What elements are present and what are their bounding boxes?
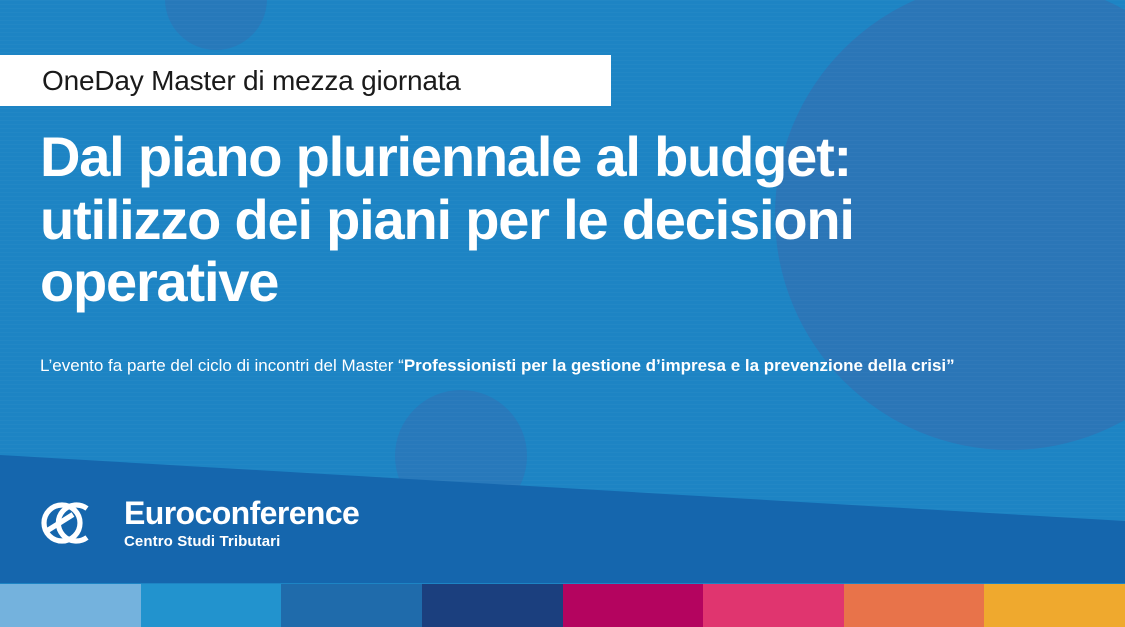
- color-swatch-pink: [703, 584, 844, 627]
- color-swatch-light-blue: [0, 584, 141, 627]
- event-format-badge: OneDay Master di mezza giornata: [0, 55, 611, 106]
- color-swatch-bright-blue: [141, 584, 282, 627]
- color-swatch-orange: [844, 584, 985, 627]
- event-subtitle: L’evento fa parte del ciclo di incontri …: [40, 353, 1085, 379]
- color-swatch-navy-blue: [422, 584, 563, 627]
- event-format-badge-label: OneDay Master di mezza giornata: [0, 65, 461, 97]
- color-swatch-medium-blue: [281, 584, 422, 627]
- color-swatch-magenta: [563, 584, 704, 627]
- ec-monogram-icon: [40, 498, 110, 548]
- decorative-circle-top-left: [165, 0, 267, 50]
- brand-logo: Euroconference Centro Studi Tributari: [40, 497, 359, 550]
- brand-name: Euroconference: [124, 497, 359, 531]
- page-title-line-1: Dal piano pluriennale al budget:: [40, 126, 1080, 189]
- page-title-line-3: operative: [40, 251, 1080, 314]
- event-subtitle-master-name: Professionisti per la gestione d’impresa…: [404, 356, 946, 375]
- event-promo-banner: OneDay Master di mezza giornata Dal pian…: [0, 0, 1125, 627]
- page-title: Dal piano pluriennale al budget: utilizz…: [40, 126, 1080, 314]
- color-swatch-amber: [984, 584, 1125, 627]
- event-subtitle-trail: ”: [946, 356, 955, 375]
- brand-tagline: Centro Studi Tributari: [124, 533, 359, 550]
- brand-color-strip: [0, 584, 1125, 627]
- event-subtitle-lead: L’evento fa parte del ciclo di incontri …: [40, 356, 404, 375]
- brand-logo-text: Euroconference Centro Studi Tributari: [124, 497, 359, 550]
- page-title-line-2: utilizzo dei piani per le decisioni: [40, 189, 1080, 252]
